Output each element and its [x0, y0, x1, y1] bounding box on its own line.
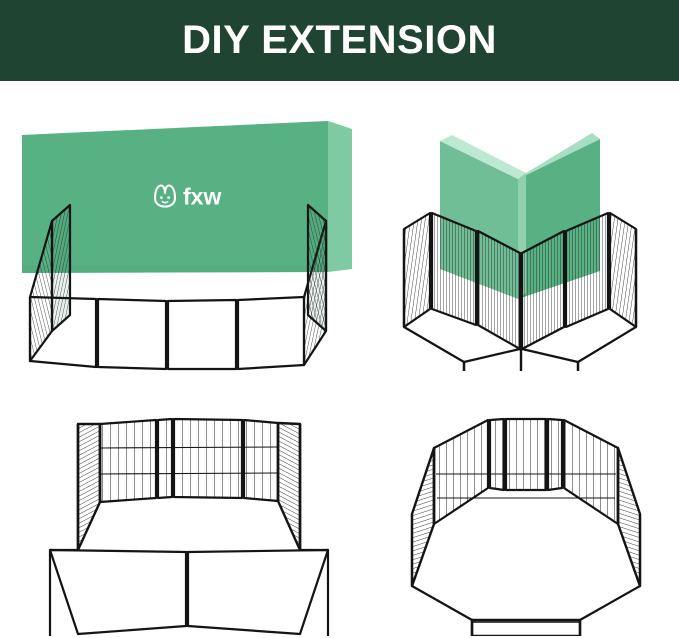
fence-panel-back-left [434, 420, 488, 524]
fence-panel-right-side [618, 448, 640, 586]
fence-panel-back-center-right [548, 419, 562, 490]
fence-panel-front-bottom-left [50, 550, 186, 634]
header-banner: DIY EXTENSION [0, 0, 679, 81]
fence-panel-left-side [78, 424, 100, 550]
fence-panel-back-4 [244, 420, 278, 501]
fence-panel-front-3 [168, 300, 236, 369]
fence-panel-back-2 [158, 419, 172, 498]
fence-panel-corner-left [478, 231, 520, 349]
fence-panel-right-outer [610, 213, 636, 327]
panel-octagon-pen [376, 386, 676, 636]
panel-square-pen [30, 386, 360, 636]
fence-panel-front-center [472, 620, 580, 636]
fence-panel-right-far [308, 205, 326, 331]
fence-panel-right-inner [566, 213, 608, 327]
illustration-gallery: fxw [0, 81, 679, 638]
fence-panel-front-bottom-right [188, 550, 328, 634]
fence-panel-left-inner [432, 213, 476, 325]
diy-extension-infographic: DIY EXTENSION [0, 0, 679, 638]
fence-assembly [412, 419, 640, 636]
fence-panel-back-right [564, 420, 618, 524]
fence-panel-front-2 [98, 299, 166, 369]
fence-panel-left-side [412, 448, 434, 586]
panel-corner-wall-extension [386, 109, 674, 371]
fence-panel-right-side [278, 423, 300, 550]
fence-panel-back-center [506, 419, 546, 490]
fence-panel-corner-right [522, 231, 564, 349]
fence-assembly [50, 419, 328, 636]
panel-straight-wall-extension: fxw [8, 109, 360, 371]
fence-panel-left-outer [404, 213, 430, 327]
fence-panel-back-center-left [490, 419, 504, 490]
fxw-logo-text: fxw [183, 184, 221, 210]
wall-side-edge [328, 121, 352, 272]
page-title: DIY EXTENSION [182, 20, 497, 60]
fence-panel-front-4 [238, 297, 304, 369]
fence-panel-left-far [52, 205, 70, 331]
fence-connector-posts [97, 299, 237, 369]
fence-panel-back-3 [174, 419, 242, 498]
fence-panel-back-1 [100, 420, 156, 502]
